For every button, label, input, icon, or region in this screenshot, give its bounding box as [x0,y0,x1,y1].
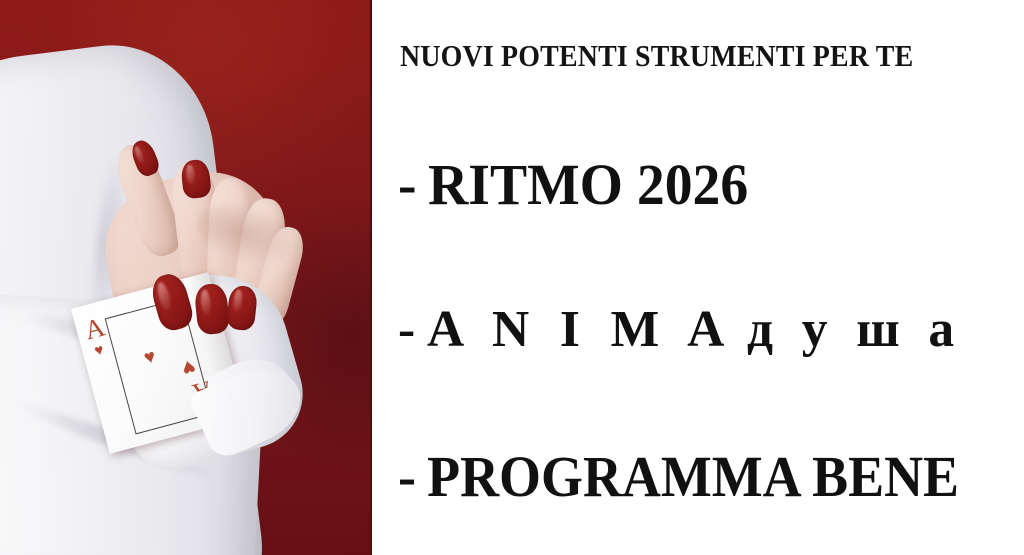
bullet-dash-programma: - [398,444,416,509]
feature-item-ritmo: -RITMO 2026 [398,156,748,214]
feature-item-programma: -PROGRAMMA BENE [398,448,959,506]
text-panel: NUOVI POTENTI STRUMENTI PER TE -RITMO 20… [372,0,1024,555]
hero-photo: A ♥ ♥ ♥ A [0,0,372,555]
headline: NUOVI POTENTI STRUMENTI PER TE [400,38,913,74]
promo-banner: A ♥ ♥ ♥ A NUOVI POTENTI STRUMENTI PER TE… [0,0,1024,555]
feature-label-programma: PROGRAMMA BENE [427,444,959,509]
feature-label-anima-latin: A N I M A [427,301,733,358]
heart-icon-top-left: ♥ [93,343,105,360]
bullet-dash-anima: - [398,301,415,358]
feature-item-anima: -A N I M Aд у ш а [398,304,962,356]
bullet-dash-ritmo: - [398,152,417,217]
feature-label-anima-cyrillic: д у ш а [747,301,962,358]
feature-label-ritmo: RITMO 2026 [428,152,748,217]
